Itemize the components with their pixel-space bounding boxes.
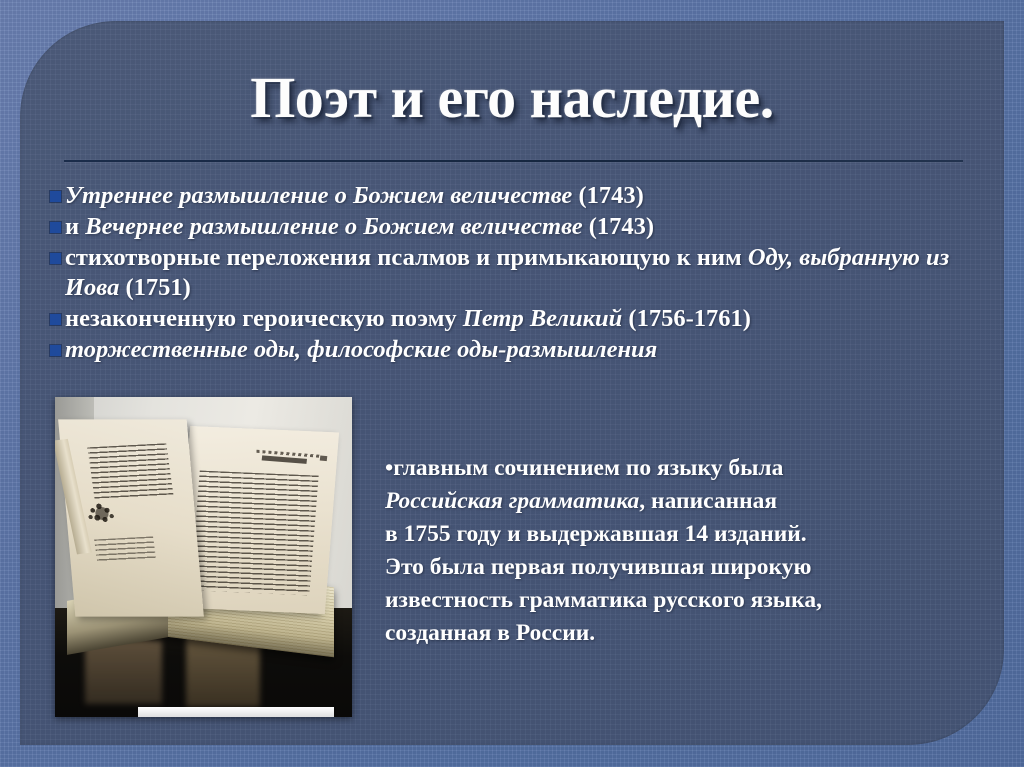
text-run: стихотворные переложения псалмов и примы… xyxy=(65,244,748,271)
photo-woodcut-ornament xyxy=(85,500,120,530)
list-item: и Вечернее размышление о Божием величест… xyxy=(50,212,985,242)
list-item-text: незаконченную героическую поэму Петр Вел… xyxy=(65,304,985,334)
page-title: Поэт и его наследие. xyxy=(0,68,1024,129)
photo-left-page xyxy=(58,420,203,618)
photo-page-number xyxy=(320,455,328,461)
paragraph-line: созданная в России. xyxy=(385,617,965,650)
text-run: , написанная xyxy=(639,488,777,514)
square-bullet-icon xyxy=(50,191,61,202)
paragraph-line: Это была первая получившая широкую xyxy=(385,551,965,584)
text-run: (1743) xyxy=(583,213,654,240)
list-item: стихотворные переложения псалмов и примы… xyxy=(50,243,985,303)
work-title: Петр Великий xyxy=(463,305,623,332)
paragraph-line: в 1755 году и выдержавшая 14 изданий. xyxy=(385,518,965,551)
list-item-text: и Вечернее размышление о Божием величест… xyxy=(65,212,985,242)
photo-bottom-label xyxy=(138,707,334,717)
square-bullet-icon xyxy=(50,345,61,356)
text-run: и xyxy=(65,213,85,240)
legacy-bullet-list: Утреннее размышление о Божием величестве… xyxy=(50,181,985,366)
photo-printed-text xyxy=(190,470,318,595)
square-bullet-icon xyxy=(50,253,61,264)
paragraph-line: известность грамматика русского языка, xyxy=(385,584,965,617)
text-run: (1743) xyxy=(572,182,643,209)
list-item: незаконченную героическую поэму Петр Вел… xyxy=(50,304,985,334)
square-bullet-icon xyxy=(50,314,61,325)
list-item-text: стихотворные переложения псалмов и примы… xyxy=(65,243,985,303)
text-run: незаконченную героическую поэму xyxy=(65,305,463,332)
photo-handwritten-text xyxy=(87,443,173,498)
photo-page-heading xyxy=(262,456,307,465)
grammar-description-paragraph: •главным сочинением по языку былаРоссийс… xyxy=(385,452,965,650)
work-title: Российская грамматика xyxy=(385,488,639,514)
photo-content xyxy=(55,397,352,717)
text-run: созданная в России. xyxy=(385,620,595,646)
work-title: Вечернее размышление о Божием величестве xyxy=(85,213,582,240)
list-item: Утреннее размышление о Божием величестве… xyxy=(50,181,985,211)
work-title: Утреннее размышление о Божием величестве xyxy=(65,182,572,209)
text-run: в 1755 году и выдержавшая 14 изданий. xyxy=(385,521,807,547)
list-item: торжественные оды, философские оды-размы… xyxy=(50,335,985,365)
text-run: (1751) xyxy=(119,274,190,301)
paragraph-line: Российская грамматика, написанная xyxy=(385,485,965,518)
list-item-text: торжественные оды, философские оды-размы… xyxy=(65,335,985,365)
paragraph-line: •главным сочинением по языку была xyxy=(385,452,965,485)
presentation-slide: Поэт и его наследие. Утреннее размышлени… xyxy=(0,0,1024,767)
text-run: •главным сочинением по языку была xyxy=(385,455,783,481)
square-bullet-icon xyxy=(50,222,61,233)
list-item-text: Утреннее размышление о Божием величестве… xyxy=(65,181,985,211)
photo-handwritten-text-lower xyxy=(94,537,156,564)
text-run: Это была первая получившая широкую xyxy=(385,554,811,580)
text-run: известность грамматика русского языка, xyxy=(385,587,822,613)
antique-book-photo xyxy=(55,397,352,717)
title-divider xyxy=(64,160,963,162)
text-run: (1756-1761) xyxy=(622,305,751,332)
work-title: торжественные оды, философские оды-размы… xyxy=(65,336,657,363)
